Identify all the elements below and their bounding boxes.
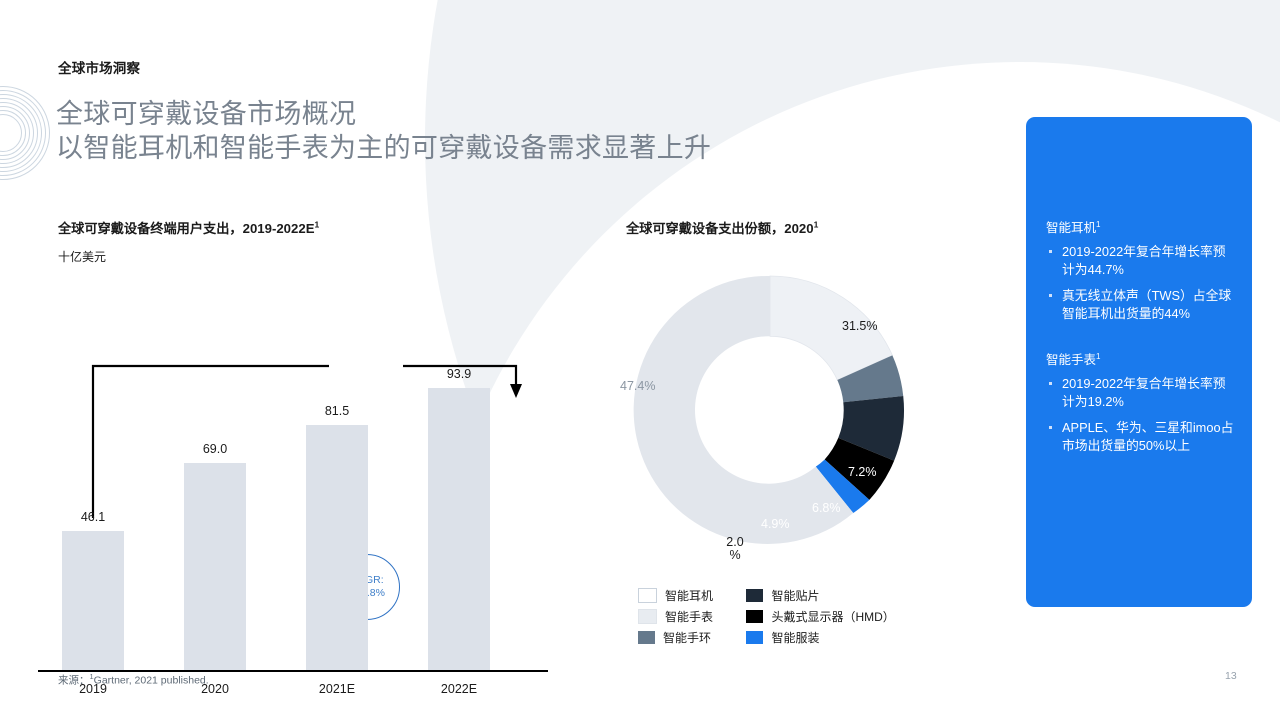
slide: 全球市场洞察 全球可穿戴设备市场概况 以智能耳机和智能手表为主的可穿戴设备需求显… bbox=[0, 0, 1280, 720]
legend-item-clothing[interactable]: 智能服装 bbox=[746, 628, 946, 647]
donut-chart-title: 全球可穿戴设备支出份额，20201 bbox=[626, 218, 956, 237]
donut-pct-clothing: 2.0 % bbox=[724, 536, 746, 562]
side-panel-heading-earbuds: 智能耳机1 bbox=[1046, 217, 1234, 236]
bar-2020[interactable] bbox=[184, 463, 246, 670]
donut-pct-earbuds: 31.5% bbox=[842, 320, 877, 333]
legend-swatch-earbuds bbox=[638, 588, 657, 603]
donut-pct-patch: 6.8% bbox=[812, 502, 841, 515]
side-panel-bullet: 真无线立体声（TWS）占全球智能耳机出货量的44% bbox=[1046, 287, 1234, 322]
legend-label-earbuds: 智能耳机 bbox=[665, 587, 713, 604]
legend-label-hmd: 头戴式显示器（HMD） bbox=[771, 608, 894, 625]
side-panel-bullet: 2019-2022年复合年增长率预计为44.7% bbox=[1046, 243, 1234, 278]
legend-swatch-hmd bbox=[746, 610, 763, 623]
side-panel-bullets-watch: 2019-2022年复合年增长率预计为19.2% APPLE、华为、三星和imo… bbox=[1046, 375, 1234, 454]
source-label: 来源： bbox=[58, 675, 90, 687]
legend-label-patch: 智能贴片 bbox=[771, 587, 819, 604]
insights-side-panel: 智能耳机1 2019-2022年复合年增长率预计为44.7% 真无线立体声（TW… bbox=[1026, 117, 1252, 607]
source-text: Gartner, 2021 published. bbox=[94, 675, 209, 687]
legend-label-band: 智能手环 bbox=[663, 629, 711, 646]
side-panel-heading-earbuds-text: 智能耳机 bbox=[1046, 221, 1096, 235]
legend-item-hmd[interactable]: 头戴式显示器（HMD） bbox=[746, 607, 946, 626]
bar-2022E[interactable] bbox=[428, 388, 490, 670]
legend-item-patch[interactable]: 智能贴片 bbox=[746, 586, 946, 605]
source-note: 来源：1Gartner, 2021 published. bbox=[58, 672, 209, 688]
donut-chart-panel: 全球可穿戴设备支出份额，20201 bbox=[626, 218, 956, 648]
legend-swatch-watch bbox=[638, 609, 657, 624]
page-number: 13 bbox=[1225, 670, 1237, 682]
donut-chart-graphic: 31.5% 7.2% 6.8% 4.9% 2.0 % 47.4% bbox=[626, 254, 926, 564]
legend-swatch-band bbox=[638, 631, 655, 644]
legend-swatch-clothing bbox=[746, 631, 763, 644]
page-title: 全球可穿戴设备市场概况 以智能耳机和智能手表为主的可穿戴设备需求显著上升 bbox=[56, 97, 711, 165]
side-panel-heading-watch: 智能手表1 bbox=[1046, 349, 1234, 368]
legend-label-clothing: 智能服装 bbox=[771, 629, 819, 646]
side-panel-heading-watch-text: 智能手表 bbox=[1046, 353, 1096, 367]
side-panel-bullet: APPLE、华为、三星和imoo占市场出货量的50%以上 bbox=[1046, 419, 1234, 454]
donut-pct-band: 7.2% bbox=[848, 466, 877, 479]
bar-value-2019: 46.1 bbox=[53, 510, 133, 524]
bar-chart-title-superscript: 1 bbox=[315, 220, 320, 230]
donut-chart-title-superscript: 1 bbox=[814, 220, 819, 230]
donut-pct-watch: 47.4% bbox=[620, 380, 655, 393]
side-panel-bullet: 2019-2022年复合年增长率预计为19.2% bbox=[1046, 375, 1234, 410]
bar-chart-unit-label: 十亿美元 bbox=[58, 248, 588, 265]
side-panel-heading-watch-superscript: 1 bbox=[1096, 352, 1100, 361]
bar-chart-plot-area: CAGR: +26.8% 46.1 69.0 81.5 93.9 2019 20… bbox=[58, 282, 550, 627]
bar-value-2020: 69.0 bbox=[175, 442, 255, 456]
bar-category-2022E: 2022E bbox=[414, 682, 504, 696]
bar-value-2022E: 93.9 bbox=[419, 367, 499, 381]
legend-item-band[interactable]: 智能手环 bbox=[638, 628, 742, 647]
bar-2019[interactable] bbox=[62, 531, 124, 670]
side-panel-bullets-earbuds: 2019-2022年复合年增长率预计为44.7% 真无线立体声（TWS）占全球智… bbox=[1046, 243, 1234, 322]
bar-category-2021E: 2021E bbox=[292, 682, 382, 696]
legend-item-earbuds[interactable]: 智能耳机 bbox=[638, 586, 742, 605]
legend-column-2: 智能贴片 头戴式显示器（HMD） 智能服装 bbox=[746, 586, 946, 649]
legend-label-watch: 智能手表 bbox=[665, 608, 713, 625]
donut-pct-hmd: 4.9% bbox=[761, 518, 790, 531]
legend-swatch-patch bbox=[746, 589, 763, 602]
bar-chart-title-text: 全球可穿戴设备终端用户支出，2019-2022E bbox=[58, 221, 315, 236]
legend-item-watch[interactable]: 智能手表 bbox=[638, 607, 742, 626]
bar-2021E[interactable] bbox=[306, 425, 368, 670]
eyebrow-label: 全球市场洞察 bbox=[58, 57, 140, 77]
bar-chart-title: 全球可穿戴设备终端用户支出，2019-2022E1 bbox=[58, 218, 588, 237]
legend-column-1: 智能耳机 智能手表 智能手环 bbox=[638, 586, 742, 649]
side-panel-heading-earbuds-superscript: 1 bbox=[1096, 220, 1100, 229]
bar-value-2021E: 81.5 bbox=[297, 404, 377, 418]
concentric-rings-decoration bbox=[0, 86, 56, 178]
donut-legend: 智能耳机 智能手表 智能手环 智能贴片 头戴式显示器（HMD bbox=[638, 586, 958, 649]
bar-chart-panel: 全球可穿戴设备终端用户支出，2019-2022E1 十亿美元 CAGR: +26… bbox=[58, 218, 588, 638]
donut-chart-title-text: 全球可穿戴设备支出份额，2020 bbox=[626, 221, 814, 236]
